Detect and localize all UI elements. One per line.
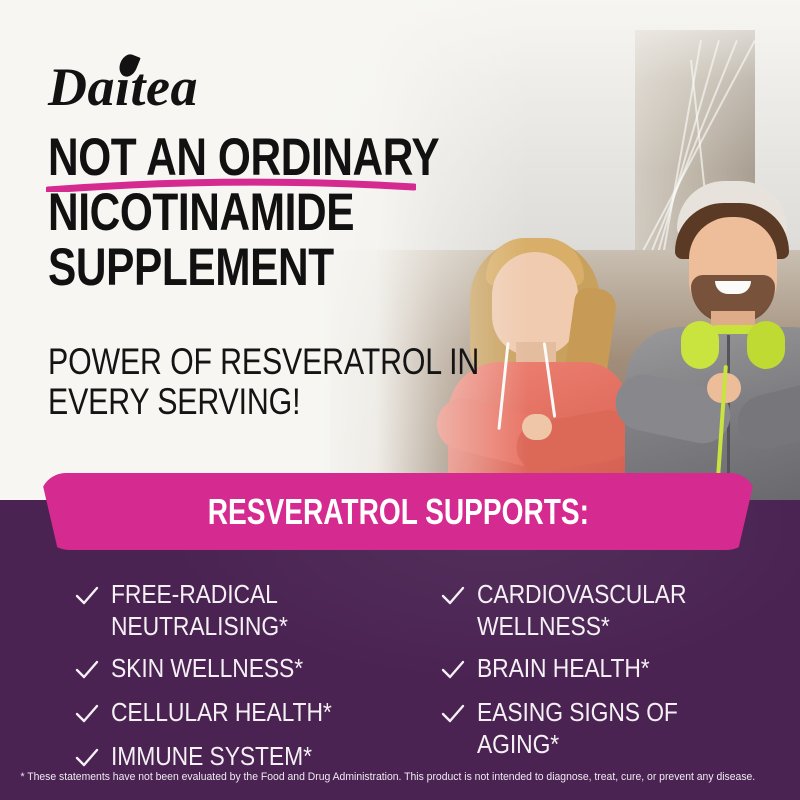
subheadline-line-2: EVERY SERVING! bbox=[48, 382, 401, 422]
supports-banner: RESVERATROL SUPPORTS: bbox=[40, 473, 756, 550]
list-item-label: FREE-RADICAL NEUTRALISING* bbox=[111, 578, 383, 642]
headline-line-2: NICOTINAMIDE bbox=[48, 185, 384, 240]
check-icon bbox=[74, 702, 100, 728]
check-icon bbox=[440, 702, 466, 728]
benefits-list: FREE-RADICAL NEUTRALISING* SKIN WELLNESS… bbox=[0, 578, 800, 746]
list-item-label: EASING SIGNS OF AGING* bbox=[477, 696, 761, 760]
list-item-label: CELLULAR HEALTH* bbox=[111, 696, 332, 728]
check-icon bbox=[74, 658, 100, 684]
list-item: BRAIN HEALTH* bbox=[440, 652, 800, 686]
subheadline-block: POWER OF RESVERATROL IN EVERY SERVING! bbox=[48, 342, 478, 422]
brand-logo[interactable]: Daitea bbox=[48, 60, 198, 114]
list-item-label: BRAIN HEALTH* bbox=[477, 652, 650, 684]
headline-line-3: SUPPLEMENT bbox=[48, 240, 384, 295]
benefits-column-left: FREE-RADICAL NEUTRALISING* SKIN WELLNESS… bbox=[0, 578, 420, 746]
list-item: CELLULAR HEALTH* bbox=[74, 696, 420, 730]
check-icon bbox=[74, 584, 100, 610]
list-item: EASING SIGNS OF AGING* bbox=[440, 696, 800, 760]
legal-disclaimer-text: * These statements have not been evaluat… bbox=[0, 770, 755, 784]
list-item-label: CARDIOVASCULAR WELLNESS* bbox=[477, 578, 664, 642]
promo-poster: Daitea NOT AN ORDINARY NICOTINAMIDE SUPP… bbox=[0, 0, 800, 800]
check-icon bbox=[440, 658, 466, 684]
benefits-column-right: CARDIOVASCULAR WELLNESS* BRAIN HEALTH* E… bbox=[420, 578, 800, 746]
legal-disclaimer: * These statements have not been evaluat… bbox=[0, 754, 800, 800]
subheadline-line-1: POWER OF RESVERATROL IN bbox=[48, 342, 401, 382]
supports-banner-title: RESVERATROL SUPPORTS: bbox=[207, 494, 588, 530]
check-icon bbox=[440, 584, 466, 610]
list-item: FREE-RADICAL NEUTRALISING* bbox=[74, 578, 420, 642]
list-item: CARDIOVASCULAR WELLNESS* bbox=[440, 578, 800, 642]
list-item: SKIN WELLNESS* bbox=[74, 652, 420, 686]
headline-block: NOT AN ORDINARY NICOTINAMIDE SUPPLEMENT bbox=[48, 130, 468, 295]
list-item-label: SKIN WELLNESS* bbox=[111, 652, 303, 684]
